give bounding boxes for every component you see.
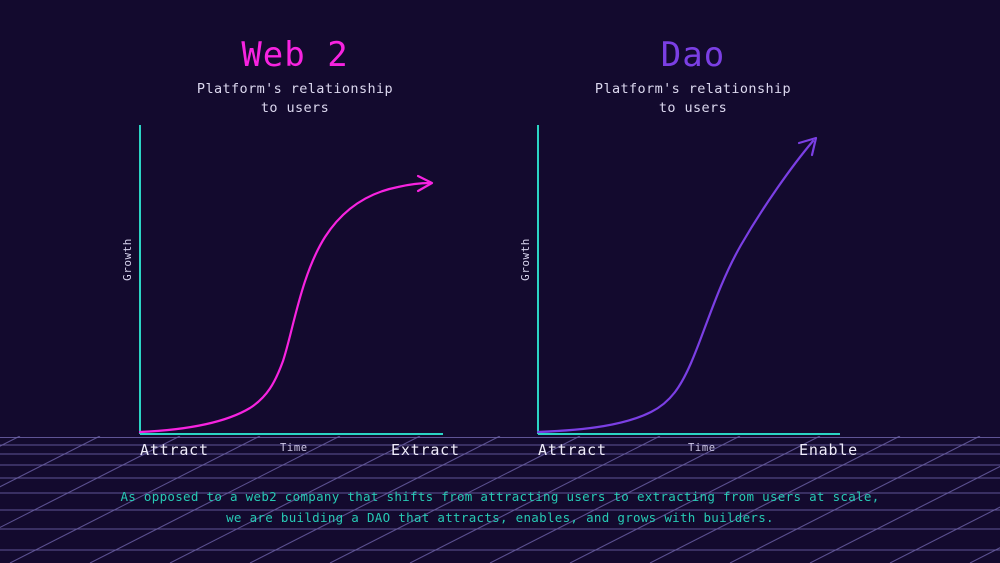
panel-dao: Dao Platform's relationship to users Gro… [468,0,918,563]
chart-web2-svg [115,125,505,440]
growth-curve-web2 [140,183,430,432]
x-axis-mid-label-web2: Time [280,442,308,454]
x-axis-mid-label-dao: Time [688,442,716,454]
growth-curve-dao [538,141,813,432]
x-axis-end-label-web2: Extract [391,441,460,459]
x-axis-end-label-dao: Enable [799,441,858,459]
panel-subtitle-web2: Platform's relationship to users [70,80,520,118]
chart-dao: Growth [513,125,903,440]
panel-title-dao: Dao [468,34,918,76]
chart-web2: Growth [115,125,505,440]
x-axis-start-label-dao: Attract [538,441,607,459]
slide-canvas: Web 2 Platform's relationship to users G… [0,0,1000,563]
panel-web2: Web 2 Platform's relationship to users G… [70,0,520,563]
y-axis-label-web2: Growth [121,238,134,281]
panel-subtitle-dao: Platform's relationship to users [468,80,918,118]
y-axis-label-dao: Growth [519,238,532,281]
panel-title-web2: Web 2 [70,34,520,76]
footer-caption: As opposed to a web2 company that shifts… [0,486,1000,528]
x-axis-start-label-web2: Attract [140,441,209,459]
chart-dao-svg [513,125,903,440]
